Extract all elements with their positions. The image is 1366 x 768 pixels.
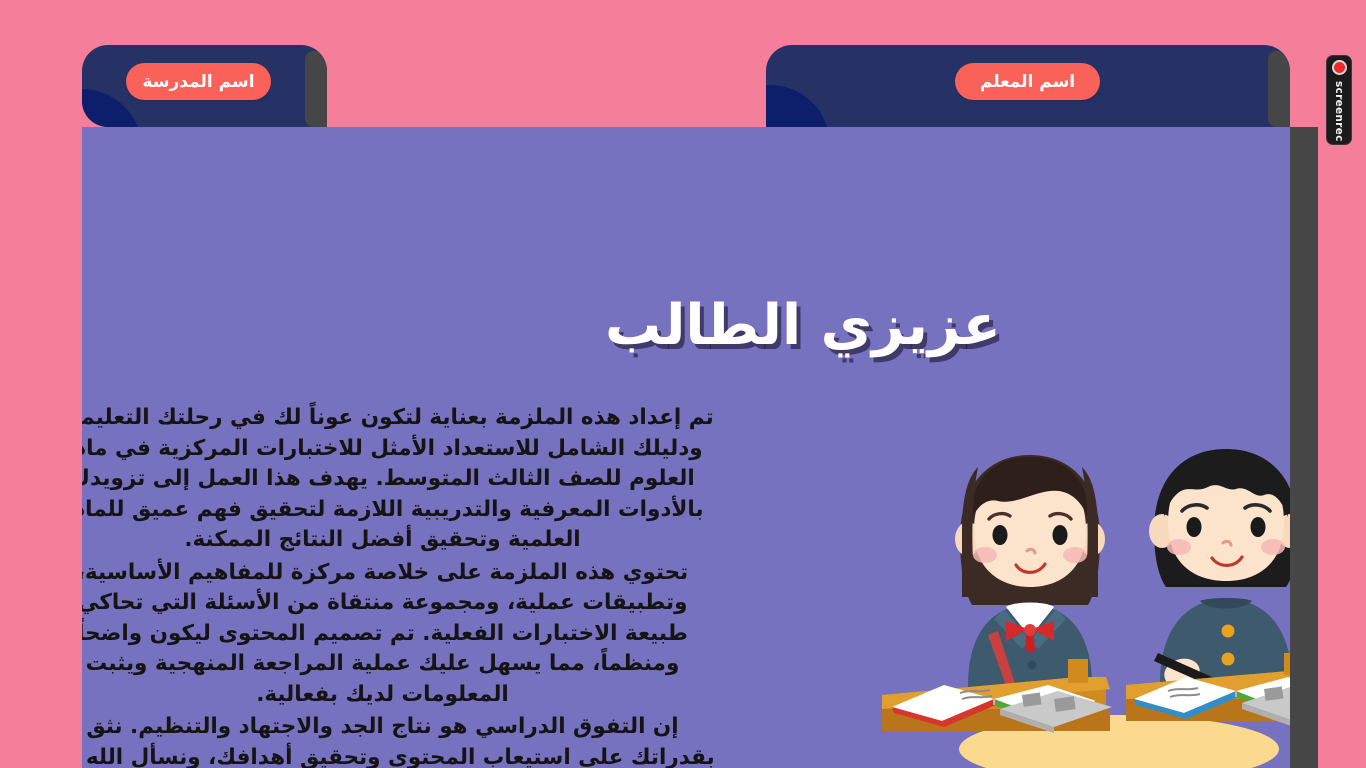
girl-eye-left <box>993 525 1008 545</box>
school-name-badge[interactable]: اسم المدرسة <box>126 63 271 100</box>
body-copy: تم إعداد هذه الملزمة بعناية لتكون عوناً … <box>82 403 715 768</box>
page-title: عزيزي الطالب <box>82 295 1290 357</box>
boy-button <box>1222 653 1235 666</box>
boy-eye-right <box>1251 517 1266 537</box>
card-accent-blob <box>766 85 830 127</box>
boy-button <box>1222 625 1235 638</box>
students-illustration <box>882 427 1290 768</box>
slide-canvas: اسم المدرسة اسم المعلم عزيزي الطالب تم إ… <box>0 0 1366 768</box>
teacher-name-badge[interactable]: اسم المعلم <box>955 63 1100 100</box>
screenrec-widget[interactable]: screenrec <box>1326 55 1352 145</box>
card-shadow-strip <box>305 51 327 127</box>
main-content-panel: عزيزي الطالب تم إعداد هذه الملزمة بعناية… <box>82 127 1290 768</box>
body-paragraph: تم إعداد هذه الملزمة بعناية لتكون عوناً … <box>82 403 715 556</box>
page-title-text: عزيزي الطالب <box>605 295 1001 357</box>
body-paragraph: إن التفوق الدراسي هو نتاج الجد والاجتهاد… <box>82 712 715 768</box>
body-paragraph: تحتوي هذه الملزمة على خلاصة مركزة للمفاه… <box>82 558 715 711</box>
boy-eye-left <box>1187 517 1202 537</box>
girl-eye-right <box>1053 525 1068 545</box>
record-dot-icon[interactable] <box>1332 60 1347 75</box>
panel-drop-shadow <box>1290 127 1318 768</box>
card-shadow-strip <box>1268 51 1290 127</box>
screenrec-label: screenrec <box>1333 81 1345 142</box>
